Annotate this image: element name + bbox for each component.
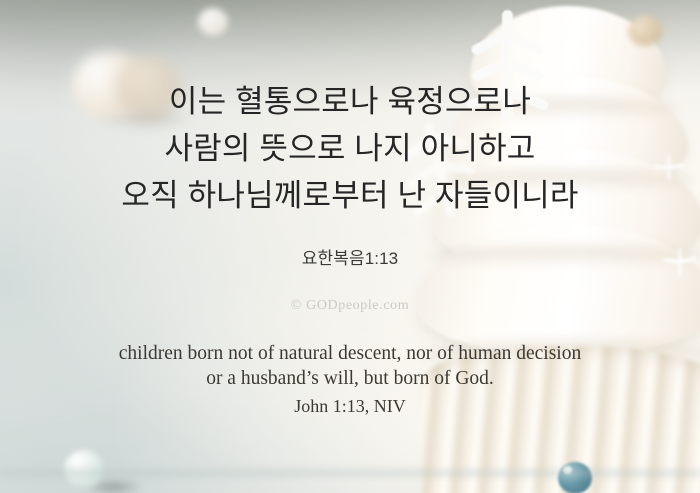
korean-verse-line-3: 오직 하나님께로부터 난 자들이니라 [0,172,700,219]
pearl-bead-top [198,8,228,36]
korean-verse-reference: 요한복음1:13 [0,244,700,269]
english-verse-reference: John 1:13, NIV [0,396,700,417]
table-surface-line [0,466,700,480]
korean-verse-text: 이는 혈통으로나 육정으로나 사람의 뜻으로 나지 아니하고 오직 하나님께로부… [0,78,700,219]
cream-bead-on-frosting [628,16,662,46]
english-verse-line-1: children born not of natural descent, no… [0,341,700,366]
verse-image-canvas: 이는 혈통으로나 육정으로나 사람의 뜻으로 나지 아니하고 오직 하나님께로부… [0,0,700,493]
korean-verse-line-1: 이는 혈통으로나 육정으로나 [0,78,700,125]
english-verse-text: children born not of natural descent, no… [0,341,700,391]
english-verse-line-2: or a husband’s will, but born of God. [0,366,700,391]
korean-verse-line-2: 사람의 뜻으로 나지 아니하고 [0,125,700,172]
watermark-godpeople: © GODpeople.com [0,298,700,314]
